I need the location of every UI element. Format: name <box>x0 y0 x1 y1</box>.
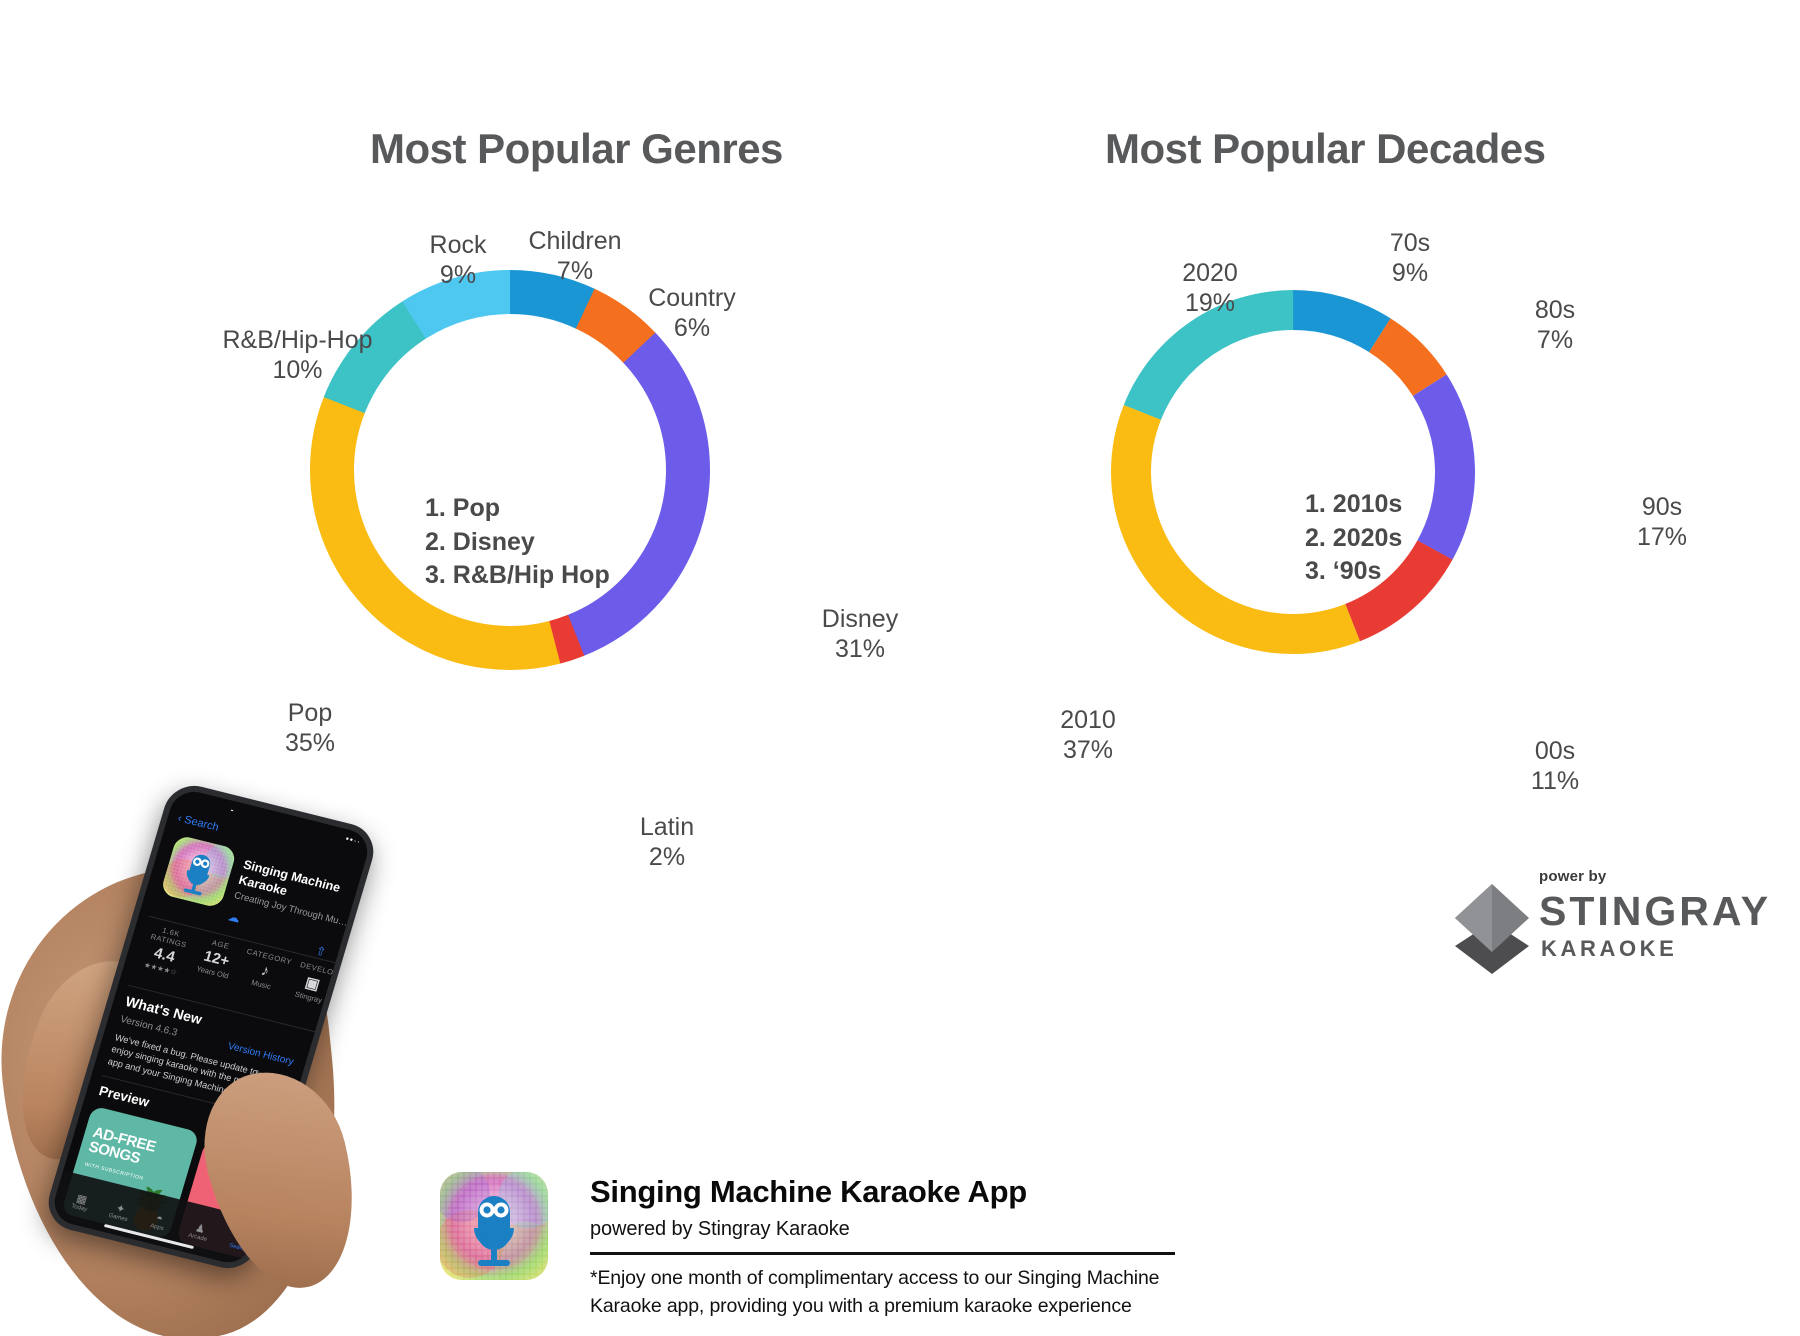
genres-label-latin-pct: 2% <box>612 842 722 872</box>
decades-label-00s-pct: 11% <box>1500 766 1610 796</box>
stingray-power-by-label: power by <box>1539 868 1606 885</box>
genres-label-rnb-name: R&B/Hip-Hop <box>222 326 372 354</box>
decades-label-70s-name: 70s <box>1390 229 1430 257</box>
decades-label-00s: 00s 11% <box>1500 736 1610 796</box>
genres-label-pop: Pop 35% <box>255 698 365 758</box>
decades-label-00s-name: 00s <box>1535 737 1575 765</box>
segment-2010 <box>1093 272 1493 672</box>
genres-label-country-name: Country <box>648 284 736 312</box>
genres-label-rnb: R&B/Hip-Hop 10% <box>205 325 390 385</box>
decades-donut-chart <box>1093 272 1493 672</box>
banner-disclaimer: *Enjoy one month of complimentary access… <box>590 1264 1190 1321</box>
segment-2020 <box>1093 272 1493 672</box>
banner-subtitle: powered by Stingray Karaoke <box>590 1218 850 1241</box>
genres-label-disney: Disney 31% <box>800 604 920 664</box>
download-cloud-icon[interactable]: ☁ <box>226 909 242 925</box>
stingray-logo: power by STINGRAY KARAOKE <box>1435 868 1735 978</box>
stingray-diamond-icon <box>1455 884 1529 974</box>
phone-back-search-link[interactable]: ‹ Search <box>176 812 220 834</box>
genres-label-latin: Latin 2% <box>612 812 722 872</box>
decades-label-2020-name: 2020 <box>1182 259 1238 287</box>
genres-label-rock-name: Rock <box>430 231 487 259</box>
decades-label-80s-pct: 7% <box>1500 325 1610 355</box>
phone-notch <box>229 799 317 835</box>
segment-90s <box>1093 272 1493 672</box>
phone-app-icon <box>160 834 238 908</box>
decades-label-90s: 90s 17% <box>1607 492 1717 552</box>
phone-preview-card-adfree-text: AD-FREE SONGS <box>87 1125 158 1170</box>
genres-label-rock: Rock 9% <box>398 230 518 290</box>
decades-label-90s-name: 90s <box>1642 493 1682 521</box>
segment-00s <box>1093 272 1493 672</box>
genres-label-pop-pct: 35% <box>255 728 365 758</box>
genres-label-disney-name: Disney <box>822 605 898 633</box>
segment-80s <box>1093 272 1493 672</box>
decades-rank-1: 1. 2010s <box>1305 490 1402 518</box>
genres-label-children: Children 7% <box>510 226 640 286</box>
genres-label-pop-name: Pop <box>288 699 332 727</box>
genres-rank-2: 2. Disney <box>425 528 535 556</box>
decades-donut-svg <box>1093 272 1493 672</box>
phone-preview-heading: Preview <box>97 1083 151 1110</box>
genres-rank-3: 3. R&B/Hip Hop <box>425 561 610 589</box>
singing-machine-app-icon <box>440 1172 548 1280</box>
genres-label-rock-pct: 9% <box>398 260 518 290</box>
stingray-karaoke-label: KARAOKE <box>1541 936 1677 962</box>
genres-label-latin-name: Latin <box>640 813 694 841</box>
banner-title: Singing Machine Karaoke App <box>590 1174 1027 1210</box>
decades-label-80s: 80s 7% <box>1500 295 1610 355</box>
decades-label-2010-name: 2010 <box>1060 706 1116 734</box>
phone-tab-today[interactable]: ▦ Today <box>59 1188 103 1216</box>
decades-label-2020: 2020 19% <box>1150 258 1270 318</box>
genres-label-country: Country 6% <box>632 283 752 343</box>
decades-chart-title: Most Popular Decades <box>1105 125 1545 173</box>
decades-label-2020-pct: 19% <box>1150 288 1270 318</box>
phone-in-hand-photo: 1:49 ••∙∙ ‹ Search <box>0 770 420 1336</box>
stingray-wordmark: STINGRAY <box>1539 888 1771 935</box>
genres-label-children-name: Children <box>528 227 621 255</box>
decades-label-70s: 70s 9% <box>1355 228 1465 288</box>
decades-center-ranking: 1. 2010s 2. 2020s 3. ‘90s <box>1305 488 1402 589</box>
infographic-canvas: Most Popular Genres 1. Pop 2. Disney 3. … <box>0 0 1800 1336</box>
decades-label-80s-name: 80s <box>1535 296 1575 324</box>
banner-divider <box>590 1252 1175 1255</box>
genres-rank-1: 1. Pop <box>425 494 500 522</box>
genres-center-ranking: 1. Pop 2. Disney 3. R&B/Hip Hop <box>425 492 610 593</box>
decades-label-70s-pct: 9% <box>1355 258 1465 288</box>
phone-tab-apps[interactable]: ◓ Apps <box>137 1208 181 1235</box>
phone-status-signal-icon: ••∙∙ <box>344 833 362 846</box>
decades-rank-3: 3. ‘90s <box>1305 557 1381 585</box>
decades-label-2010: 2010 37% <box>1023 705 1153 765</box>
genres-label-rnb-pct: 10% <box>205 355 390 385</box>
phone-tab-games[interactable]: ✦ Games <box>98 1198 142 1226</box>
decades-rank-2: 2. 2020s <box>1305 524 1402 552</box>
genres-label-children-pct: 7% <box>510 256 640 286</box>
genres-label-country-pct: 6% <box>632 313 752 343</box>
genres-chart-title: Most Popular Genres <box>370 125 783 173</box>
phone-stat-category: CATEGORY ♪ Music <box>235 946 296 995</box>
genres-label-disney-pct: 31% <box>800 634 920 664</box>
app-promo-banner: Singing Machine Karaoke App powered by S… <box>440 1172 1200 1312</box>
phone-stat-developer: DEVELO ▣ Stingray <box>286 959 340 1007</box>
decades-label-90s-pct: 17% <box>1607 522 1717 552</box>
decades-label-2010-pct: 37% <box>1023 735 1153 765</box>
